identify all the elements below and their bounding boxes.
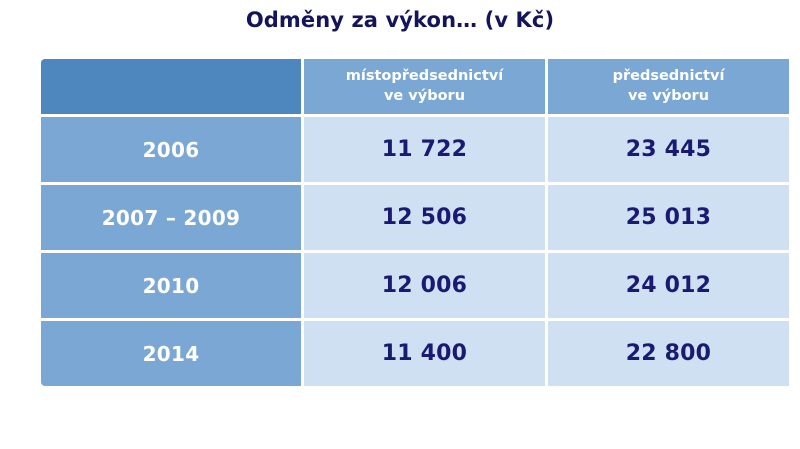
pay-table-container: místopředsednictví ve výboru předsednict… <box>38 56 785 378</box>
cell-2010-chair: 24 012 <box>548 253 789 318</box>
table-row: 2006 11 722 23 445 <box>41 117 789 182</box>
cell-2014-chair: 22 800 <box>548 321 789 386</box>
table-header-row: místopředsednictví ve výboru předsednict… <box>41 59 789 114</box>
slide-root: Odměny za výkon… (v Kč) místopředsednict… <box>0 0 800 449</box>
cell-2006-chair: 23 445 <box>548 117 789 182</box>
page-title: Odměny za výkon… (v Kč) <box>0 8 800 32</box>
cell-2007-2009-chair: 25 013 <box>548 185 789 250</box>
row-label-2006: 2006 <box>41 117 301 182</box>
row-label-2010: 2010 <box>41 253 301 318</box>
table-row: 2014 11 400 22 800 <box>41 321 789 386</box>
column-header-chair: předsednictví ve výboru <box>548 59 789 114</box>
cell-2007-2009-vice-chair: 12 506 <box>304 185 545 250</box>
cell-2006-vice-chair: 11 722 <box>304 117 545 182</box>
row-label-2014: 2014 <box>41 321 301 386</box>
column-header-chair-line1: předsednictví <box>548 67 789 87</box>
table-row: 2007 – 2009 12 506 25 013 <box>41 185 789 250</box>
column-header-vice-chair-line1: místopředsednictví <box>304 67 545 87</box>
cell-2014-vice-chair: 11 400 <box>304 321 545 386</box>
cell-2010-vice-chair: 12 006 <box>304 253 545 318</box>
column-header-vice-chair-line2: ve výboru <box>304 87 545 107</box>
pay-table: místopředsednictví ve výboru předsednict… <box>38 56 792 389</box>
column-header-vice-chair: místopředsednictví ve výboru <box>304 59 545 114</box>
column-header-chair-line2: ve výboru <box>548 87 789 107</box>
table-row: 2010 12 006 24 012 <box>41 253 789 318</box>
row-label-2007-2009: 2007 – 2009 <box>41 185 301 250</box>
table-corner-cell <box>41 59 301 114</box>
